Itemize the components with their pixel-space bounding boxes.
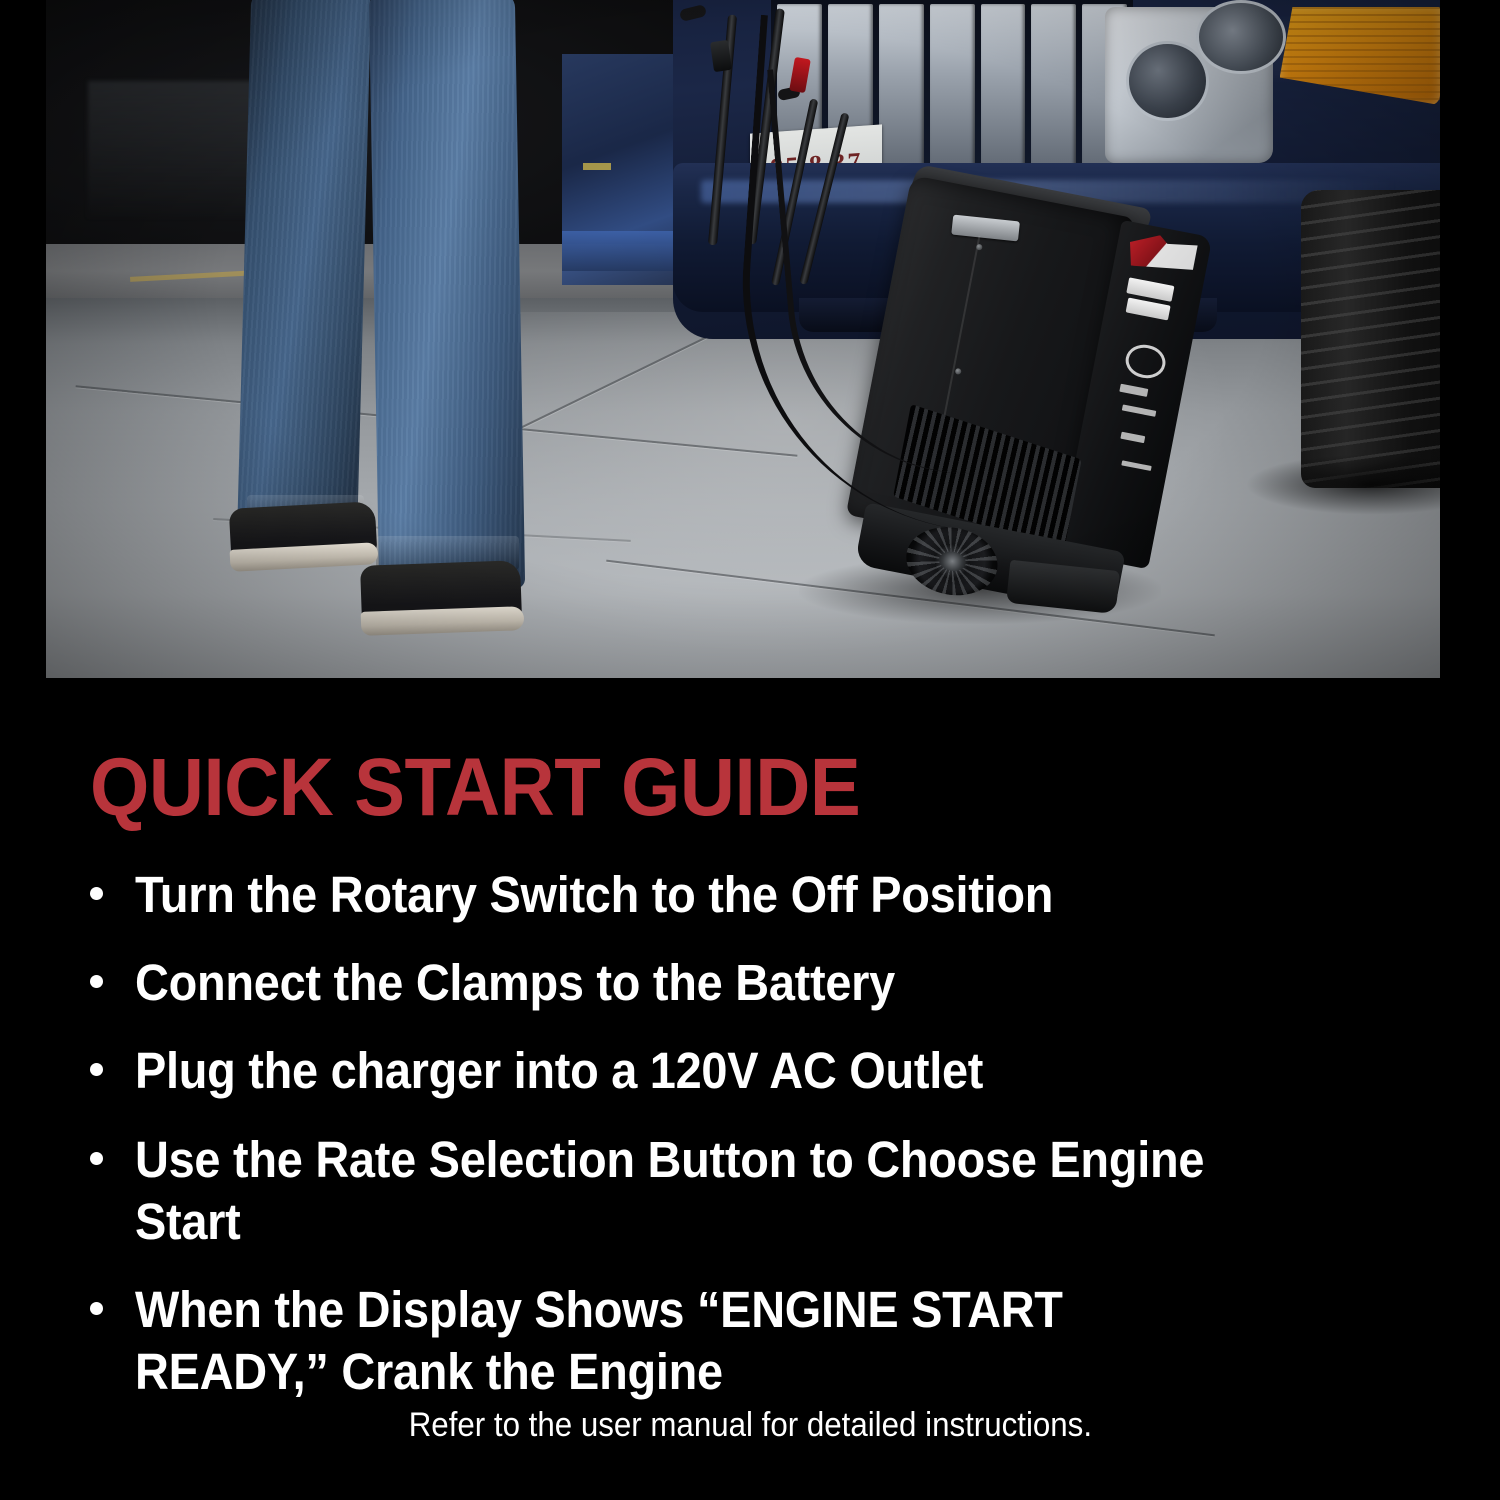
jeep-tire-shadow	[1245, 454, 1440, 515]
list-item: Connect the Clamps to the Battery	[90, 952, 1420, 1014]
footer-note: Refer to the user manual for detailed in…	[0, 1406, 1500, 1445]
list-item: When the Display Shows “ENGINE START REA…	[90, 1279, 1420, 1403]
step-text: Plug the charger into a 120V AC Outlet	[135, 1040, 983, 1102]
quick-start-steps-list: Turn the Rotary Switch to the Off Positi…	[90, 864, 1420, 1430]
person-left-leg	[237, 0, 371, 551]
hero-photo: 95 8 37	[46, 0, 1440, 678]
jeep-headlight-lamp	[1126, 41, 1209, 122]
grille-slot	[1031, 4, 1076, 179]
guide-content: QUICK START GUIDE Turn the Rotary Switch…	[0, 678, 1500, 1500]
step-text: Turn the Rotary Switch to the Off Positi…	[135, 864, 1053, 926]
bullet-dot-icon	[90, 887, 103, 900]
jeep-headlight-lamp	[1196, 0, 1286, 74]
denim-texture	[237, 0, 371, 551]
charger-screw	[975, 243, 982, 250]
step-text: Use the Rate Selection Button to Choose …	[135, 1129, 1317, 1253]
bullet-dot-icon	[90, 975, 103, 988]
step-text: Connect the Clamps to the Battery	[135, 952, 895, 1014]
denim-texture	[368, 0, 525, 591]
list-item: Turn the Rotary Switch to the Off Positi…	[90, 864, 1420, 926]
list-item: Use the Rate Selection Button to Choose …	[90, 1129, 1420, 1253]
list-item: Plug the charger into a 120V AC Outlet	[90, 1040, 1420, 1102]
jeep-tire-tread	[1301, 190, 1440, 488]
bullet-dot-icon	[90, 1302, 103, 1315]
page-title: QUICK START GUIDE	[90, 750, 860, 825]
bullet-dot-icon	[90, 1063, 103, 1076]
quick-start-guide-page: 95 8 37	[0, 0, 1500, 1500]
step-text: When the Display Shows “ENGINE START REA…	[135, 1279, 1202, 1403]
wall-poster-tick	[583, 163, 611, 170]
person-right-leg	[368, 0, 525, 591]
garage-scene-image: 95 8 37	[46, 0, 1440, 678]
footer-note-text: Refer to the user manual for detailed in…	[408, 1406, 1091, 1445]
bullet-dot-icon	[90, 1152, 103, 1165]
grille-slot	[981, 4, 1026, 179]
